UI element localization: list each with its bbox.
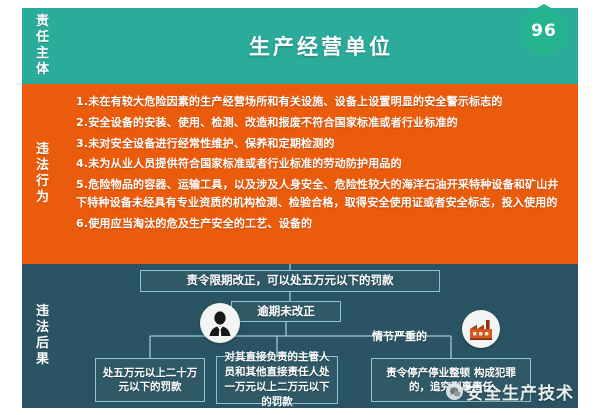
flow-box-fine-person[interactable]: 对其直接负责的主管人员和其他直接责任人处一万元以上二万元以下的罚款 [216,356,338,404]
sidebar-item-label-2: 违法后果 [36,304,51,367]
person-icon [200,303,240,343]
list-item: 2.安全设备的安装、使用、检测、改造和报废不符合国家标准或者行业标准的 [76,114,568,132]
sidebar-item-legal-consequence[interactable]: 违法后果 [22,264,64,408]
flow-box-overdue[interactable]: 逾期未改正 [231,301,341,322]
flow-branch-label-serious: 情节严重的 [372,328,427,344]
consequences-band: 责令限期改正，可以处五万元以下的罚款 逾期未改正 处五万元以上二十万元以下的罚款… [64,264,578,408]
infographic-page: 责任主体 违法行为 违法后果 生产经营单位 96 1.未在有较大危险因素的生产经… [0,0,600,415]
sidebar-item-label-0: 责任主体 [36,14,51,77]
flow-box-shutdown[interactable]: 责令停产停业整顿 构成犯罪的，追究刑事责任 [371,358,531,402]
list-item: 1.未在有较大危险因素的生产经营场所和有关设施、设备上设置明显的安全警示标志的 [76,93,568,111]
flow-box-fine-unit[interactable]: 处五万元以上二十万元以下的罚款 [95,358,205,402]
flow-box-order-correct[interactable]: 责令限期改正，可以处五万元以下的罚款 [140,270,440,292]
list-item: 6.使用应当淘汰的危及生产安全的工艺、设备的 [76,215,568,233]
page-title: 生产经营单位 [64,31,578,61]
list-item: 5.危险物品的容器、运输工具，以及涉及人身安全、危险性较大的海洋石油开采特种设备… [76,176,568,212]
liability-chart: 责任主体 违法行为 违法后果 生产经营单位 96 1.未在有较大危险因素的生产经… [22,8,578,408]
violations-list: 1.未在有较大危险因素的生产经营场所和有关设施、设备上设置明显的安全警示标志的 … [64,84,578,242]
list-item: 3.未对安全设备进行经常性维护、保养和定期检测的 [76,135,568,153]
sidebar-item-responsible-subject[interactable]: 责任主体 [22,8,64,84]
violations-band: 1.未在有较大危险因素的生产经营场所和有关设施、设备上设置明显的安全警示标志的 … [64,84,578,264]
sidebar-item-illegal-act[interactable]: 违法行为 [22,84,64,264]
consequences-flowchart: 责令限期改正，可以处五万元以下的罚款 逾期未改正 处五万元以上二十万元以下的罚款… [64,264,578,408]
factory-icon [462,310,500,348]
sidebar-item-label-1: 违法行为 [36,142,51,205]
list-item: 4.未为从业人员提供符合国家标准或者行业标准的劳动防护用品的 [76,155,568,173]
header-band: 生产经营单位 96 [64,8,578,84]
